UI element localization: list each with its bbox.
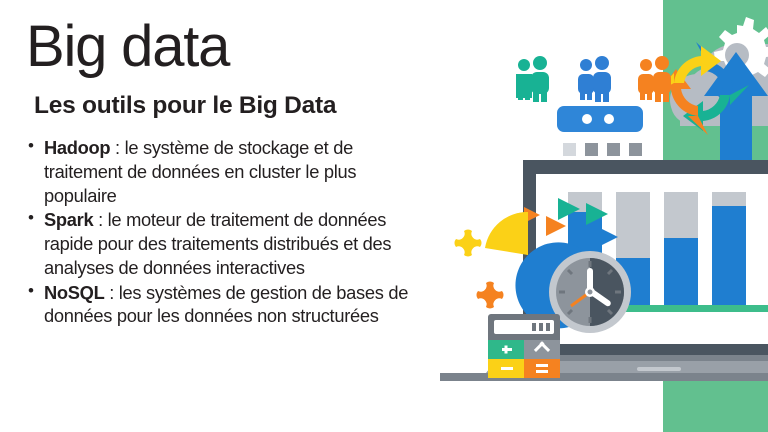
calculator-key-equals	[524, 359, 560, 378]
tools-bullet-list: Hadoop : le système de stockage et de tr…	[24, 136, 432, 328]
bullet-term: Spark	[44, 209, 93, 230]
bullet-term: NoSQL	[44, 282, 104, 303]
section-subtitle: Les outils pour le Big Data	[34, 92, 432, 120]
text-column: Big data Les outils pour le Big Data Had…	[0, 0, 440, 432]
calculator-icon	[488, 314, 560, 378]
bullet-term: Hadoop	[44, 137, 110, 158]
bullet-separator: :	[110, 137, 124, 158]
bar-value	[664, 238, 698, 305]
big-data-analytics-illustration	[440, 0, 768, 432]
slide: Big data Les outils pour le Big Data Had…	[0, 0, 768, 432]
person-icon	[516, 59, 532, 100]
calendar-dot	[582, 114, 592, 124]
calendar-dot	[604, 114, 614, 124]
bullet-separator: :	[93, 209, 107, 230]
bar-value	[712, 206, 746, 305]
person-icon	[578, 59, 594, 100]
page-title: Big data	[26, 18, 432, 76]
list-item: Spark : le moteur de traitement de donné…	[24, 208, 424, 279]
bullet-separator: :	[104, 282, 118, 303]
list-item: NoSQL : les systèmes de gestion de bases…	[24, 281, 424, 329]
person-icon	[638, 59, 654, 100]
list-item: Hadoop : le système de stockage et de tr…	[24, 136, 424, 207]
clock-icon	[549, 251, 631, 333]
